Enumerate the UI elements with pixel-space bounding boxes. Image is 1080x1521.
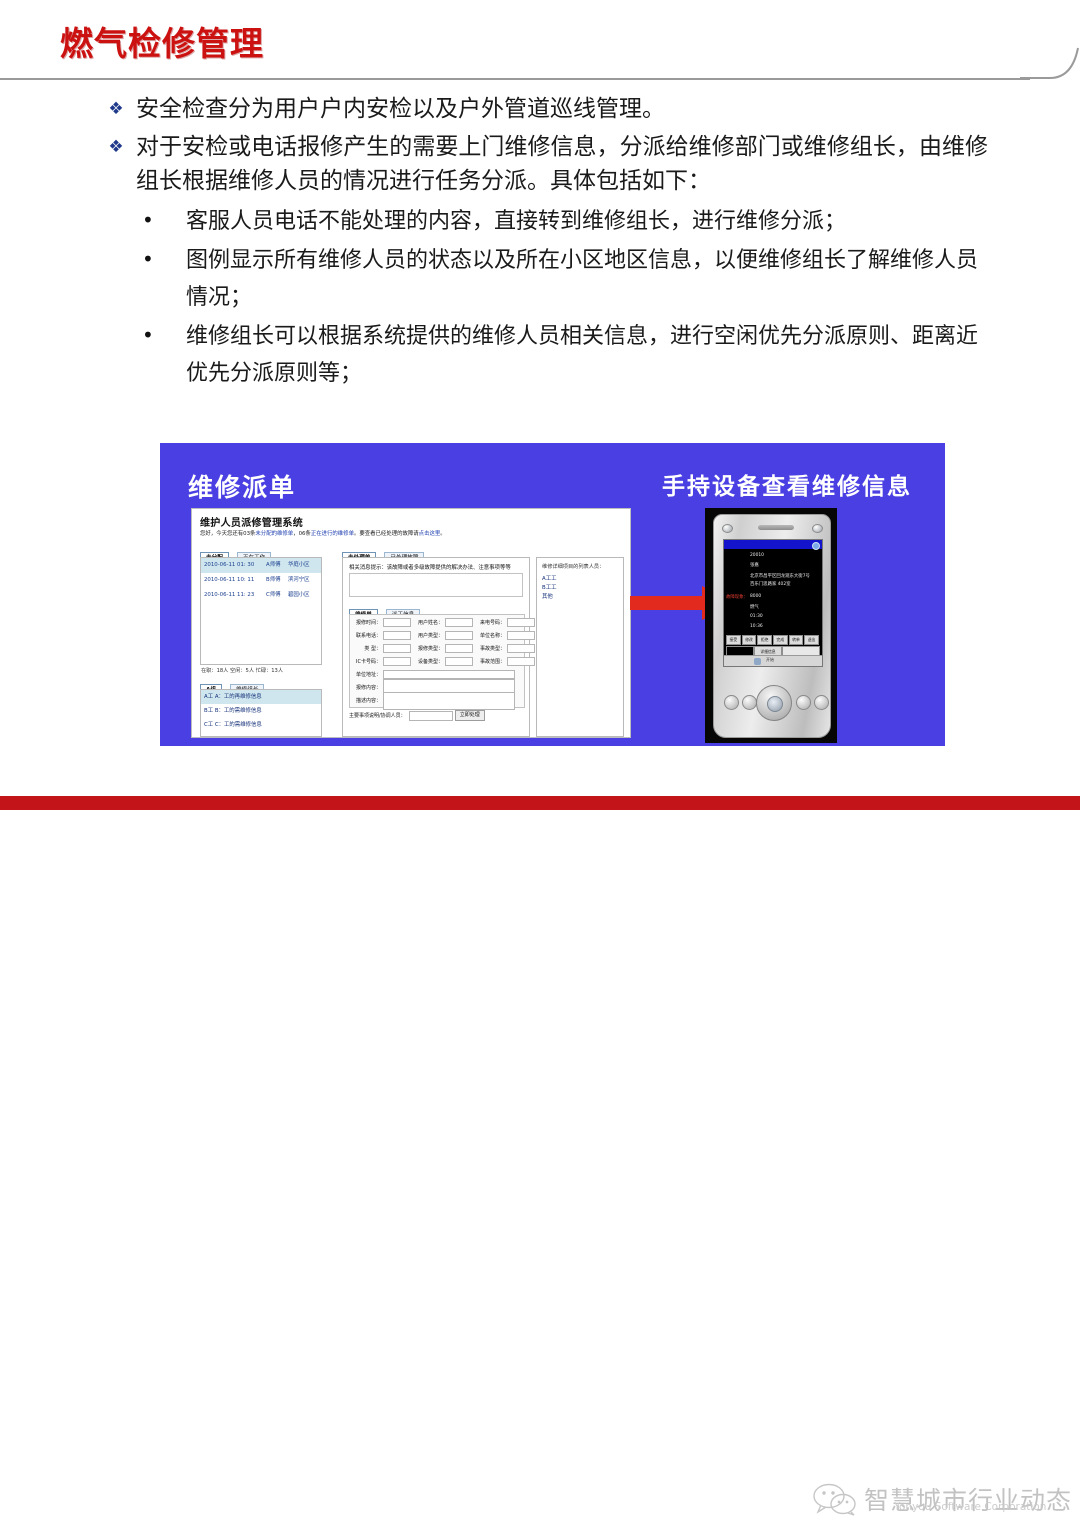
screenshot-caption-left: 维修派单 (188, 468, 296, 504)
field-label: 事故范围： (477, 658, 505, 665)
pda-exit-button[interactable]: 退出 (804, 635, 819, 645)
list-item[interactable]: B工工 (542, 583, 556, 591)
tabbar-worklist: 未分配 正在工作 (200, 545, 274, 557)
contact-phone-field[interactable] (383, 631, 411, 640)
pda-key-2[interactable] (742, 695, 757, 710)
worklist-person: A师傅 (266, 558, 288, 573)
order-detail-panel: 相关消息提示：该故障或者多级故障提供的解决办法、注意事项等等 维修单 派工信息 … (342, 557, 530, 737)
diamond-bullet-icon: ❖ (96, 130, 136, 164)
worklist-panel[interactable]: 2010-06-11 01: 30A师傅华庭小区 2010-06-11 10: … (200, 557, 322, 665)
screenshot-caption-right: 手持设备查看维修信息 (662, 467, 912, 501)
staff-desc: A：工的再维修信息 (215, 694, 262, 700)
form-footer-label: 主要事项说明/协调人员： (349, 712, 406, 719)
pda-accept-button[interactable]: 接受 (726, 635, 741, 645)
staff-detail-panel: 维修详细项目的列表人员： A工工 B工工 其他 (536, 557, 624, 737)
bullet-level2-2-text: 图例显示所有维修人员的状态以及所在小区地区信息，以便维修组长了解维修人员情况； (186, 241, 1080, 315)
dot-bullet-icon: • (142, 202, 186, 239)
app-title: 维护人员派修管理系统 (200, 514, 303, 529)
dot-bullet-icon: • (142, 241, 186, 278)
app-subtitle-count1: 03 (243, 531, 250, 537)
order-form: 报修时间： 用户姓名： 来电号码： 联系电话： 用户类型： 单位名称： 类 型：… (349, 614, 525, 708)
field-label: 来电号码： (477, 619, 505, 626)
app-subtitle-p6: 。 (440, 531, 445, 537)
start-icon[interactable] (754, 658, 761, 665)
slide-footer: 智慧城市行业动态 Yonyou Software Corporation (0, 746, 1080, 810)
dispatch-app-window: 维护人员派修管理系统 您好，今天您还有03条未分配的维修单，06条正在进行的维修… (191, 508, 631, 738)
report-time-field[interactable] (383, 618, 411, 627)
slide-header: 燃气检修管理 (0, 0, 1080, 82)
field-label: 单位名称： (477, 632, 505, 639)
pda-text-line: 10:36 (750, 624, 763, 629)
app-subtitle: 您好，今天您还有03条未分配的维修单，06条正在进行的维修单。要查看已经处理的故… (200, 529, 446, 537)
pda-top-bezel (722, 521, 822, 536)
form-row: 联系电话： 用户类型： 单位名称： (353, 630, 524, 641)
watermark: 智慧城市行业动态 Yonyou Software Corporation (812, 1481, 1072, 1517)
worklist-person: C师傅 (266, 588, 288, 603)
field-label: 用户类型： (415, 632, 443, 639)
pda-text-line: 燃气 (750, 604, 759, 610)
pda-hardware-keys (718, 673, 826, 733)
list-item[interactable]: B工 B：工的需维修信息 (201, 704, 321, 718)
pda-text-line: 北京市昌平区回龙观东大街7号 (750, 573, 810, 579)
bullet-level1-2: ❖ 对于安检或电话报修产生的需要上门维修信息，分派给维修部门或维修组长，由维修组… (0, 130, 1080, 198)
staff-code: A工 (204, 694, 213, 700)
watermark-subtitle: Yonyou Software Corporation (894, 1501, 1046, 1513)
device-type-field[interactable] (445, 657, 473, 666)
staff-list-panel[interactable]: A工 A：工的再维修信息 B工 B：工的需维修信息 C工 C：工的需维修信息 (200, 689, 322, 737)
ok-close-icon[interactable] (812, 542, 820, 550)
list-item[interactable]: A工 A：工的再维修信息 (201, 690, 321, 704)
pda-text-line: 张嘉 (750, 562, 759, 568)
bullet-level1-1: ❖ 安全检查分为用户户内安检以及户外管道巡线管理。 (0, 92, 1080, 126)
pda-complete-button[interactable]: 完成 (773, 635, 788, 645)
app-subtitle-p5: 。要查看已经处理的故障请 (354, 531, 419, 537)
process-now-button[interactable]: 立即处理 (455, 710, 485, 721)
form-row: 报修时间： 用户姓名： 来电号码： (353, 617, 524, 628)
pda-text-line: 8000 (750, 594, 761, 599)
description-field[interactable] (383, 692, 515, 710)
field-label: 联系电话： (353, 632, 381, 639)
list-item[interactable]: 2010-06-11 10: 11B师傅滨河宁区 (201, 573, 321, 588)
tabbar-orders: 未处理单 已处理故障 (342, 545, 427, 557)
pda-grille (758, 525, 794, 530)
field-label: 报修内容： (353, 684, 381, 691)
message-hint-label: 相关消息提示：该故障或者多级故障提供的解决办法、注意事项等等 (349, 563, 511, 571)
pda-key-1[interactable] (724, 695, 739, 710)
app-subtitle-link-inprogress[interactable]: 正在进行的维修单 (311, 531, 354, 537)
worklist-zone: 滨河宁区 (288, 573, 310, 588)
header-curl-decoration (1020, 46, 1080, 80)
app-subtitle-link-unassigned[interactable]: 未分配的维修单 (255, 531, 293, 537)
pda-titlebar (724, 540, 822, 549)
pda-reject-button[interactable]: 拒绝 (757, 635, 772, 645)
field-label: 报修时间： (353, 619, 381, 626)
bullet-level2-3-text: 维修组长可以根据系统提供的维修人员相关信息，进行空闲优先分派原则、距离近优先分派… (186, 317, 1080, 391)
list-item[interactable]: 2010-06-11 01: 30A师傅华庭小区 (201, 558, 321, 573)
pda-text-line: 20010 (750, 553, 764, 558)
user-type-field[interactable] (445, 631, 473, 640)
field-label: 单位地址： (353, 671, 381, 678)
tabbar-form: 维修单 派工信息 (349, 602, 423, 614)
bullet-level1-1-text: 安全检查分为用户户内安检以及户外管道巡线管理。 (136, 92, 1080, 126)
pda-led-icon (812, 524, 823, 533)
worklist-zone: 碧园小区 (288, 588, 310, 603)
bullet-level1-2-text: 对于安检或电话报修产生的需要上门维修信息，分派给维修部门或维修组长，由维修组长根… (136, 130, 1080, 198)
field-label: 类 型： (353, 645, 381, 652)
bullet-level2-2: • 图例显示所有维修人员的状态以及所在小区地区信息，以便维修组长了解维修人员情况… (0, 241, 1080, 315)
worklist-datetime: 2010-06-11 01: 30 (204, 558, 266, 573)
message-textarea[interactable] (349, 573, 523, 597)
list-item[interactable]: C工 C：工的需维修信息 (201, 718, 321, 732)
pda-text-line: 百乐门思路家 402室 (750, 581, 791, 587)
diamond-bullet-icon: ❖ (96, 92, 136, 126)
pda-dpad-center[interactable] (767, 696, 783, 712)
page-title: 燃气检修管理 (60, 17, 264, 65)
ic-card-field[interactable] (383, 657, 411, 666)
screenshot-panel: 维修派单 手持设备查看维修信息 维护人员派修管理系统 您好，今天您还有03条未分… (160, 443, 945, 746)
report-type-field[interactable] (445, 644, 473, 653)
pda-taskbar: 开始 (724, 655, 822, 666)
pda-key-3[interactable] (796, 695, 811, 710)
coordinator-select[interactable] (409, 711, 453, 721)
bullet-level2-1-text: 客服人员电话不能处理的内容，直接转到维修组长，进行维修分派； (186, 202, 1080, 239)
right-panel-label: 维修详细项目的列表人员： (542, 563, 604, 570)
accident-scope-field[interactable] (507, 657, 535, 666)
header-divider (0, 78, 1030, 80)
caller-number-field[interactable] (507, 618, 535, 627)
app-subtitle-p1: 您好，今天您还有 (200, 531, 243, 537)
worklist-zone: 华庭小区 (288, 558, 310, 573)
pda-transfer-button[interactable]: 转单 (789, 635, 804, 645)
pda-key-4[interactable] (814, 695, 829, 710)
pda-screen: 20010 张嘉 北京市昌平区回龙观东大街7号 百乐门思路家 402室 故障现象… (723, 539, 823, 667)
pda-fault-label: 故障现象： (726, 594, 748, 600)
staff-desc: C：工的需维修信息 (215, 722, 262, 728)
staff-desc: B：工的需维修信息 (215, 708, 262, 714)
form-footer: 主要事项说明/协调人员： 立即处理 (349, 710, 523, 721)
pda-taskbar-label: 开始 (766, 657, 774, 663)
pda-dpad-icon[interactable] (756, 685, 792, 721)
bullet-level2-3: • 维修组长可以根据系统提供的维修人员相关信息，进行空闲优先分派原则、距离近优先… (0, 317, 1080, 391)
staff-code: C工 (204, 722, 213, 728)
form-row: 类 型： 报修类型： 事故类型： (353, 643, 524, 654)
dot-bullet-icon: • (142, 317, 186, 354)
tabbar-groups: A组 维修组长 (200, 677, 267, 689)
field-label: IC卡号码： (353, 658, 381, 665)
user-name-field[interactable] (445, 618, 473, 627)
field-label: 用户姓名： (415, 619, 443, 626)
footer-bar (0, 796, 1080, 810)
worklist-person: B师傅 (266, 573, 288, 588)
list-item[interactable]: 其他 (542, 592, 553, 600)
wechat-icon (812, 1482, 858, 1516)
bullet-level2-1: • 客服人员电话不能处理的内容，直接转到维修组长，进行维修分派； (0, 202, 1080, 239)
form-row: IC卡号码： 设备类型： 事故范围： (353, 656, 524, 667)
worklist-datetime: 2010-06-11 10: 11 (204, 573, 266, 588)
pda-text-line: 01:30 (750, 614, 763, 619)
staff-code: B工 (204, 708, 213, 714)
slide-body: ❖ 安全检查分为用户户内安检以及户外管道巡线管理。 ❖ 对于安检或电话报修产生的… (0, 92, 1080, 393)
category-field[interactable] (383, 644, 411, 653)
field-label: 报修类型： (415, 645, 443, 652)
accident-type-field[interactable] (507, 644, 535, 653)
pda-modify-button[interactable]: 修改 (742, 635, 757, 645)
pda-action-buttons: 接受 修改 拒绝 完成 转单 退出 (726, 635, 820, 645)
pda-speaker-icon (722, 524, 733, 533)
staff-status-line: 在职：18人 空闲：5人 忙碌：13人 (201, 667, 283, 674)
app-subtitle-link-here[interactable]: 点击这里 (419, 531, 441, 537)
list-item[interactable]: A工工 (542, 574, 556, 582)
worklist-datetime: 2010-06-11 11: 23 (204, 588, 266, 603)
pda-device: 20010 张嘉 北京市昌平区回龙观东大街7号 百乐门思路家 402室 故障现象… (705, 508, 837, 743)
watermark-text: 智慧城市行业动态 Yonyou Software Corporation (864, 1481, 1072, 1517)
list-item[interactable]: 2010-06-11 11: 23C师傅碧园小区 (201, 588, 321, 603)
form-row: 描述内容： (353, 695, 524, 706)
field-label: 设备类型： (415, 658, 443, 665)
field-label: 描述内容： (353, 697, 381, 704)
field-label: 事故类型： (477, 645, 505, 652)
pda-body: 20010 张嘉 北京市昌平区回龙观东大街7号 百乐门思路家 402室 故障现象… (713, 514, 831, 738)
unit-name-field[interactable] (507, 631, 535, 640)
